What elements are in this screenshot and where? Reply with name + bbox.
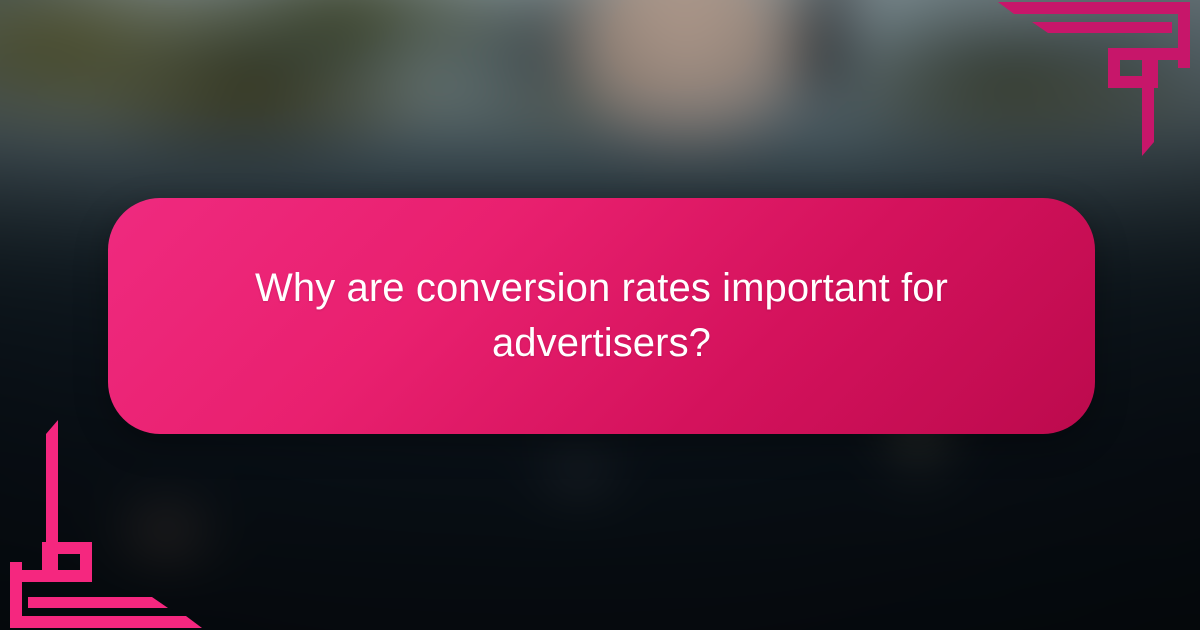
ornament-square-connector xyxy=(1146,48,1190,60)
question-title: Why are conversion rates important for a… xyxy=(222,261,982,371)
corner-ornament-bottom-left xyxy=(0,415,210,630)
question-card: Why are conversion rates important for a… xyxy=(108,198,1095,434)
ornament-bar-inner xyxy=(1032,22,1172,33)
ornament-stem xyxy=(1142,60,1154,156)
ornament-stem xyxy=(46,420,58,570)
ornament-square-connector xyxy=(10,570,54,582)
ornament-bar-inner xyxy=(28,597,168,608)
ornament-bar-outer xyxy=(998,2,1190,14)
ornament-bar-outer xyxy=(10,616,202,628)
banner-stage: Why are conversion rates important for a… xyxy=(0,0,1200,630)
corner-ornament-top-right xyxy=(990,0,1200,160)
